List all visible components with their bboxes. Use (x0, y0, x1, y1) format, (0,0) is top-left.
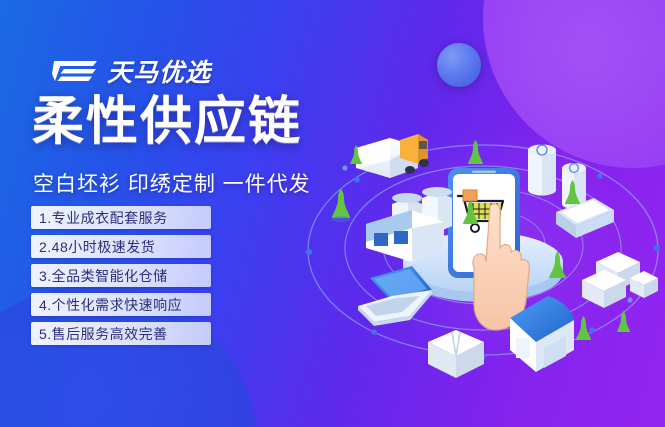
package-boxes-icon (428, 330, 484, 378)
list-item-label: 4.个性化需求快速响应 (39, 295, 182, 315)
feature-list: 1.专业成衣配套服务 2.48小时极速发货 3.全品类智能化仓储 4.个性化需求… (31, 206, 211, 351)
list-item: 1.专业成衣配套服务 (31, 206, 211, 229)
tree-icon (617, 311, 630, 332)
hero-subtitle: 空白坯衫 印绣定制 一件代发 (33, 168, 311, 198)
list-item: 5.售后服务高效完善 (31, 322, 211, 345)
list-item-label: 1.专业成衣配套服务 (39, 208, 168, 228)
list-item: 4.个性化需求快速响应 (31, 293, 211, 316)
brand-logo: 天马优选 (52, 53, 211, 89)
tree-icon (468, 140, 483, 164)
promotional-banner: 天马优选 柔性供应链 空白坯衫 印绣定制 一件代发 1.专业成衣配套服务 2.4… (0, 0, 665, 427)
list-item-label: 3.全品类智能化仓储 (39, 266, 168, 286)
list-item: 3.全品类智能化仓储 (31, 264, 211, 287)
list-item-label: 2.48小时极速发货 (39, 237, 155, 257)
text-column: 天马优选 柔性供应链 空白坯衫 印绣定制 一件代发 1.专业成衣配套服务 2.4… (0, 0, 350, 427)
page-title: 柔性供应链 (32, 96, 302, 148)
tree-icon (576, 316, 591, 340)
speed-lines-e-logo-icon (52, 58, 98, 84)
stacked-boxes-icon (582, 252, 658, 308)
list-item: 2.48小时极速发货 (31, 235, 211, 258)
supply-chain-illustration (300, 0, 665, 427)
list-item-label: 5.售后服务高效完善 (39, 324, 168, 344)
brand-name: 天马优选 (107, 53, 211, 89)
